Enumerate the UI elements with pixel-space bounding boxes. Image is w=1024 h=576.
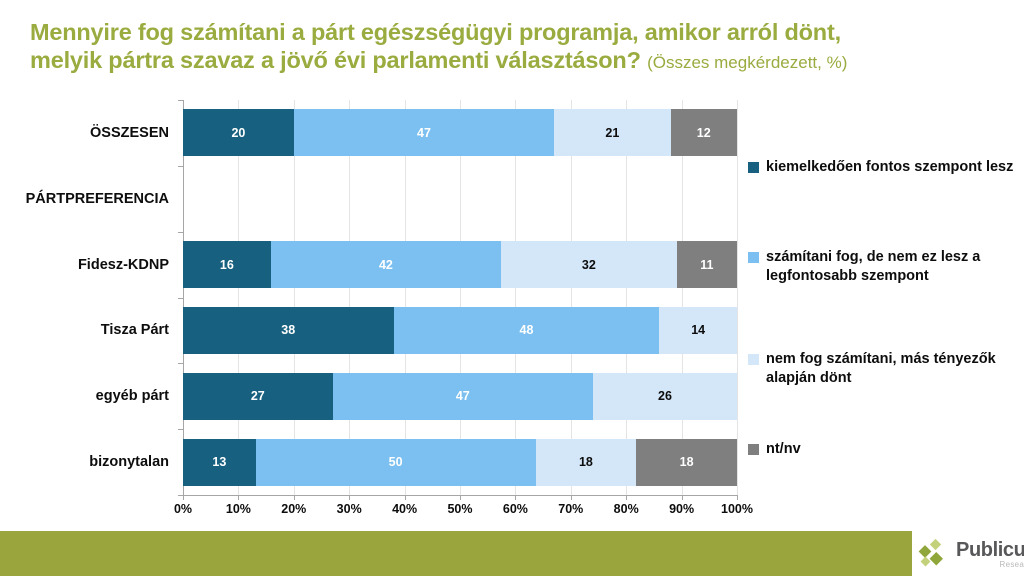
y-axis-tick [178,429,183,430]
legend-swatch-icon [748,252,759,263]
bar-segment[interactable]: 13 [183,439,256,486]
legend-label: számítani fog, de nem ez lesz a legfonto… [766,248,1016,286]
bar-segment[interactable]: 32 [501,241,677,288]
gridline [626,100,627,495]
title-line-2-text: melyik pártra szavaz a jövő évi parlamen… [30,47,641,73]
x-axis-tick-label: 10% [226,502,251,516]
y-axis-tick [178,363,183,364]
y-axis-tick [178,298,183,299]
bar-segment[interactable]: 18 [636,439,737,486]
x-axis: 0%10%20%30%40%50%60%70%80%90%100% [183,495,737,525]
gridline [515,100,516,495]
bar-segment[interactable]: 48 [394,307,660,354]
y-axis-category-labels: ÖSSZESENPÁRTPREFERENCIAFidesz-KDNPTisza … [0,100,176,495]
x-axis-tick-label: 70% [558,502,583,516]
legend-label: kiemelkedően fontos szempont lesz [766,158,1013,177]
bar-segment[interactable]: 27 [183,373,333,420]
x-axis-tick [294,495,295,500]
x-axis-tick-label: 80% [614,502,639,516]
title-line-2: melyik pártra szavaz a jövő évi parlamen… [30,46,990,77]
chart-container: ÖSSZESENPÁRTPREFERENCIAFidesz-KDNPTisza … [0,100,1024,530]
x-axis-tick-label: 100% [721,502,753,516]
y-axis-tick [178,166,183,167]
logo-subtitle: Research [956,560,1024,570]
x-axis-tick-label: 30% [337,502,362,516]
diamond-cluster-icon [918,538,952,572]
title-line-1: Mennyire fog számítani a párt egészségüg… [30,18,990,46]
legend-item-3[interactable]: nem fog számítani, más tényezők alapján … [748,350,1016,388]
x-axis-tick [405,495,406,500]
bar-segment[interactable]: 14 [659,307,737,354]
gridline [405,100,406,495]
x-axis-tick [238,495,239,500]
bar-row[interactable]: 384814 [183,307,737,354]
legend-label: nem fog számítani, más tényezők alapján … [766,350,1016,388]
x-axis-tick [682,495,683,500]
category-label-2: PÁRTPREFERENCIA [26,191,169,207]
legend-swatch-icon [748,162,759,173]
category-label-6: bizonytalan [89,454,169,470]
gridline [238,100,239,495]
bar-row[interactable]: 13501818 [183,439,737,486]
x-axis-tick [571,495,572,500]
logo-wordmark: Publicus Research [956,540,1024,570]
chart-legend: kiemelkedően fontos szempont leszszámíta… [748,100,1018,500]
x-axis-tick [349,495,350,500]
gridline [294,100,295,495]
page-title: Mennyire fog számítani a párt egészségüg… [30,18,990,77]
gridline [737,100,738,495]
bar-segment[interactable]: 47 [333,373,593,420]
gridline [460,100,461,495]
bar-segment[interactable]: 21 [554,109,670,156]
x-axis-tick-label: 50% [447,502,472,516]
x-axis-tick [515,495,516,500]
bar-segment[interactable]: 20 [183,109,294,156]
gridline [349,100,350,495]
bar-row[interactable]: 20472112 [183,109,737,156]
logo-name: Publicus [956,540,1024,560]
category-label-1: ÖSSZESEN [90,125,169,141]
gridline [571,100,572,495]
x-axis-tick-label: 60% [503,502,528,516]
bar-segment[interactable]: 12 [671,109,737,156]
x-axis-tick-label: 20% [281,502,306,516]
x-axis-tick-label: 0% [174,502,192,516]
legend-label: nt/nv [766,440,801,459]
legend-swatch-icon [748,444,759,455]
bar-segment[interactable]: 50 [256,439,536,486]
legend-swatch-icon [748,354,759,365]
x-axis-tick-label: 90% [669,502,694,516]
x-axis-tick [460,495,461,500]
title-subtitle: (Összes megkérdezett, %) [647,53,847,72]
x-axis-tick [626,495,627,500]
publicus-logo: Publicus Research [918,534,1024,576]
bar-segment[interactable]: 16 [183,241,271,288]
y-axis-tick [178,100,183,101]
bar-segment[interactable]: 38 [183,307,394,354]
category-label-3: Fidesz-KDNP [78,257,169,273]
legend-item-1[interactable]: kiemelkedően fontos szempont lesz [748,158,1016,177]
bar-row[interactable]: 274726 [183,373,737,420]
y-axis-tick [178,232,183,233]
y-axis-line [183,100,184,495]
footer-bar [0,531,912,576]
bar-segment[interactable]: 47 [294,109,554,156]
bar-segment[interactable]: 18 [536,439,637,486]
x-axis-tick [183,495,184,500]
gridline [682,100,683,495]
bar-segment[interactable]: 42 [271,241,501,288]
legend-item-4[interactable]: nt/nv [748,440,1016,459]
x-axis-tick [737,495,738,500]
category-label-4: Tisza Párt [101,322,169,338]
x-axis-tick-label: 40% [392,502,417,516]
bar-segment[interactable]: 26 [593,373,737,420]
plot-area: 204721121642321138481427472613501818 [183,100,737,495]
category-label-5: egyéb párt [96,388,169,404]
bar-segment[interactable]: 11 [677,241,737,288]
legend-item-2[interactable]: számítani fog, de nem ez lesz a legfonto… [748,248,1016,286]
bar-row[interactable]: 16423211 [183,241,737,288]
